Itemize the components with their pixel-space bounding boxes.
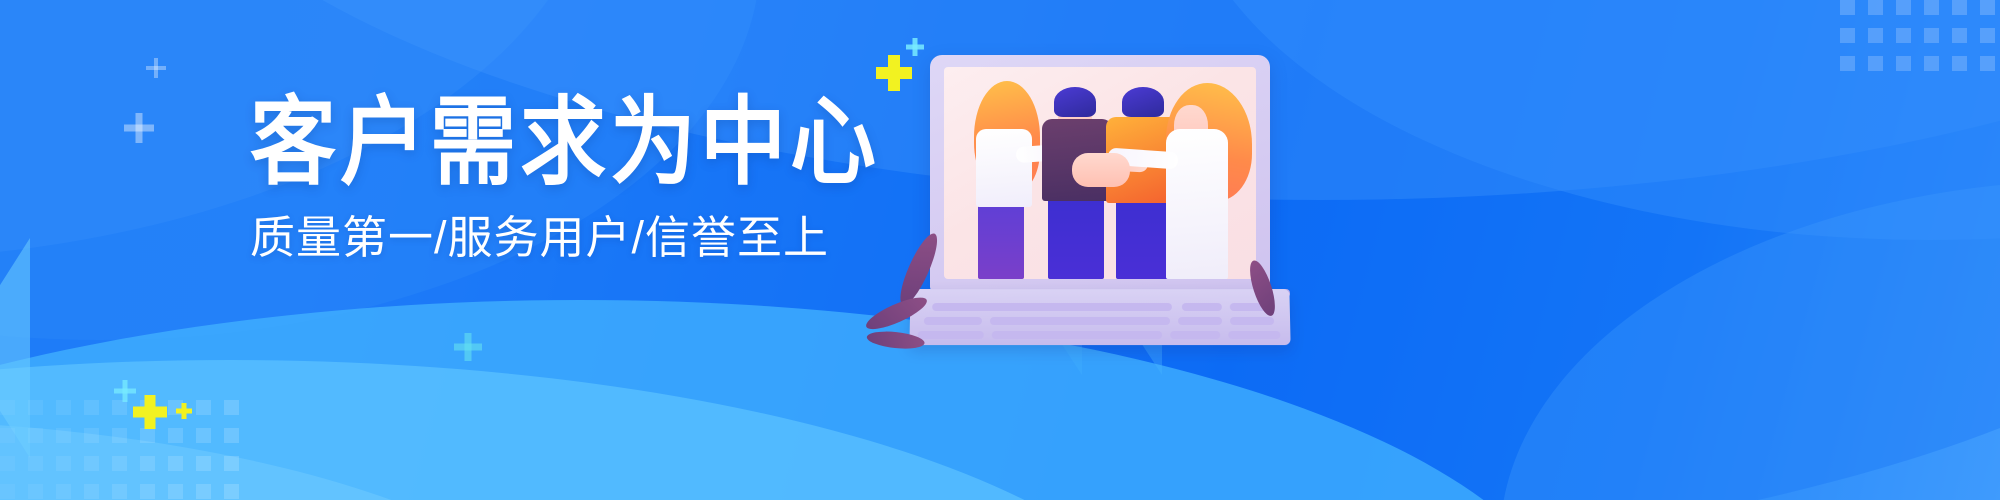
banner-copy: 客户需求为中心 质量第一/服务用户/信誉至上 bbox=[250, 95, 870, 260]
man-left-hair bbox=[1054, 87, 1096, 117]
promo-banner: 客户需求为中心 质量第一/服务用户/信誉至上 bbox=[0, 0, 2000, 500]
laptop-screen bbox=[944, 67, 1256, 279]
keyboard-key bbox=[924, 317, 982, 325]
page-title: 客户需求为中心 bbox=[250, 95, 870, 191]
woman-left-top bbox=[976, 129, 1032, 207]
banner-subtitle: 质量第一/服务用户/信誉至上 bbox=[250, 215, 870, 260]
woman-right-blouse bbox=[1166, 129, 1228, 279]
plus-icon-yellow-tiny bbox=[176, 403, 192, 419]
keyboard-key bbox=[932, 303, 1172, 311]
stacked-hands bbox=[1072, 153, 1130, 187]
plus-icon-cyan-mid bbox=[454, 333, 482, 361]
man-right-hair bbox=[1122, 87, 1164, 117]
laptop-keyboard-base bbox=[909, 289, 1290, 345]
keyboard-key bbox=[990, 317, 1170, 325]
keyboard-key bbox=[1182, 303, 1222, 311]
plus-icon-white-large bbox=[124, 113, 154, 143]
keyboard-key bbox=[1228, 331, 1280, 339]
keyboard-key bbox=[1178, 317, 1222, 325]
plus-icon-yellow-top bbox=[876, 55, 912, 91]
keyboard-key bbox=[1170, 331, 1220, 339]
keyboard-key bbox=[992, 331, 1162, 339]
keyboard-key bbox=[918, 331, 984, 339]
keyboard-key bbox=[1230, 317, 1274, 325]
laptop-illustration bbox=[910, 55, 1290, 345]
plus-icon-cyan-top bbox=[906, 38, 924, 56]
background-chevron-1 bbox=[0, 238, 30, 458]
plus-icon-yellow-large bbox=[133, 395, 167, 429]
plus-icon-white-small bbox=[146, 58, 166, 78]
person-woman-right bbox=[1160, 67, 1256, 279]
